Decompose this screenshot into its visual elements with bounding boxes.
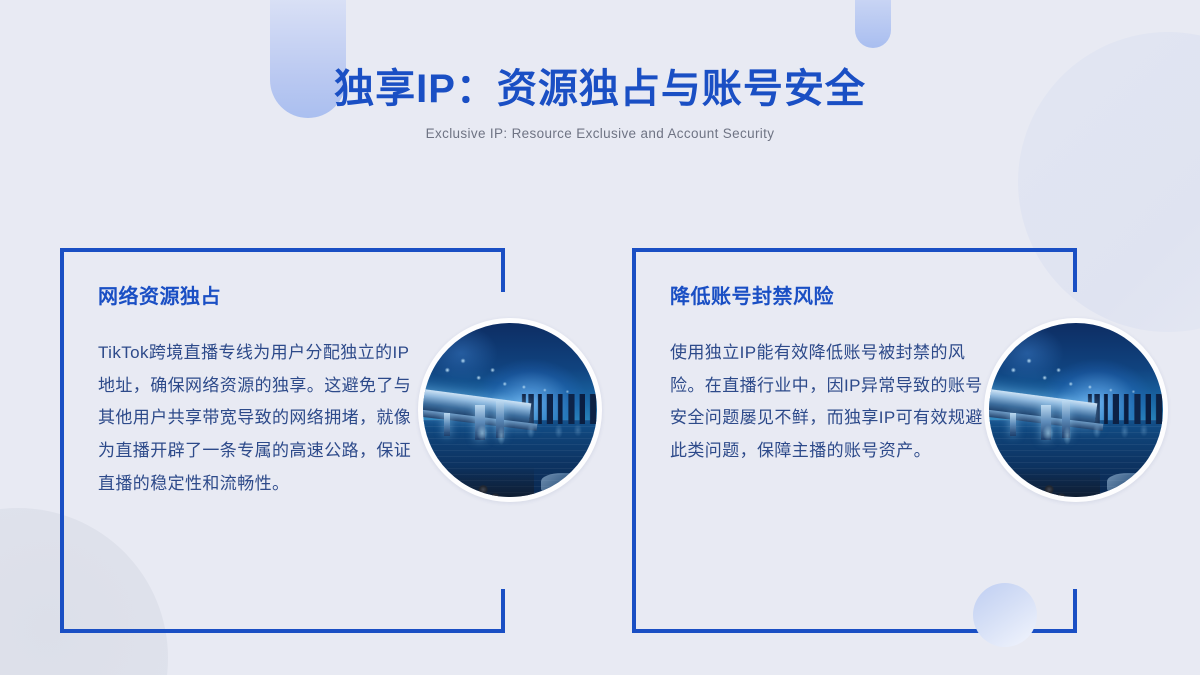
slide-canvas: 独享IP：资源独占与账号安全 Exclusive IP: Resource Ex… [0,0,1200,675]
page-subtitle: Exclusive IP: Resource Exclusive and Acc… [0,126,1200,141]
frame-edge-right-bottom-stub [1073,589,1077,633]
frame-edge-bottom [60,629,505,633]
frame-edge-left [632,248,636,633]
card-body-text: 使用独立IP能有效降低账号被封禁的风险。在直播行业中，因IP异常导致的账号安全问… [670,337,988,468]
page-title: 独享IP：资源独占与账号安全 [0,66,1200,112]
card-body-text: TikTok跨境直播专线为用户分配独立的IP地址，确保网络资源的独享。这避免了与… [98,337,416,500]
card-content: 降低账号封禁风险 使用独立IP能有效降低账号被封禁的风险。在直播行业中，因IP异… [670,280,1042,468]
photo-scene [423,323,597,497]
frame-edge-left [60,248,64,633]
water-reflections-layer [989,424,1163,469]
night-bridge-city-waterfront-photo [984,318,1168,502]
shoal-highlight [1107,473,1159,494]
street-lights-layer [989,347,1163,424]
card-heading: 降低账号封禁风险 [670,280,1042,309]
card-heading: 网络资源独占 [98,280,470,309]
frame-edge-top [60,248,505,252]
card-content: 网络资源独占 TikTok跨境直播专线为用户分配独立的IP地址，确保网络资源的独… [98,280,470,500]
frame-edge-right-top-stub [1073,248,1077,292]
foreground-rocks [989,466,1100,497]
photo-scene [989,323,1163,497]
frame-edge-bottom [632,629,1077,633]
foreground-rocks [423,466,534,497]
water-reflections-layer [423,424,597,469]
shoal-highlight [541,473,593,494]
street-lights-layer [423,347,597,424]
frame-edge-right-bottom-stub [501,589,505,633]
frame-edge-top [632,248,1077,252]
frame-edge-right-top-stub [501,248,505,292]
night-bridge-city-waterfront-photo [418,318,602,502]
slide-header: 独享IP：资源独占与账号安全 Exclusive IP: Resource Ex… [0,0,1200,141]
